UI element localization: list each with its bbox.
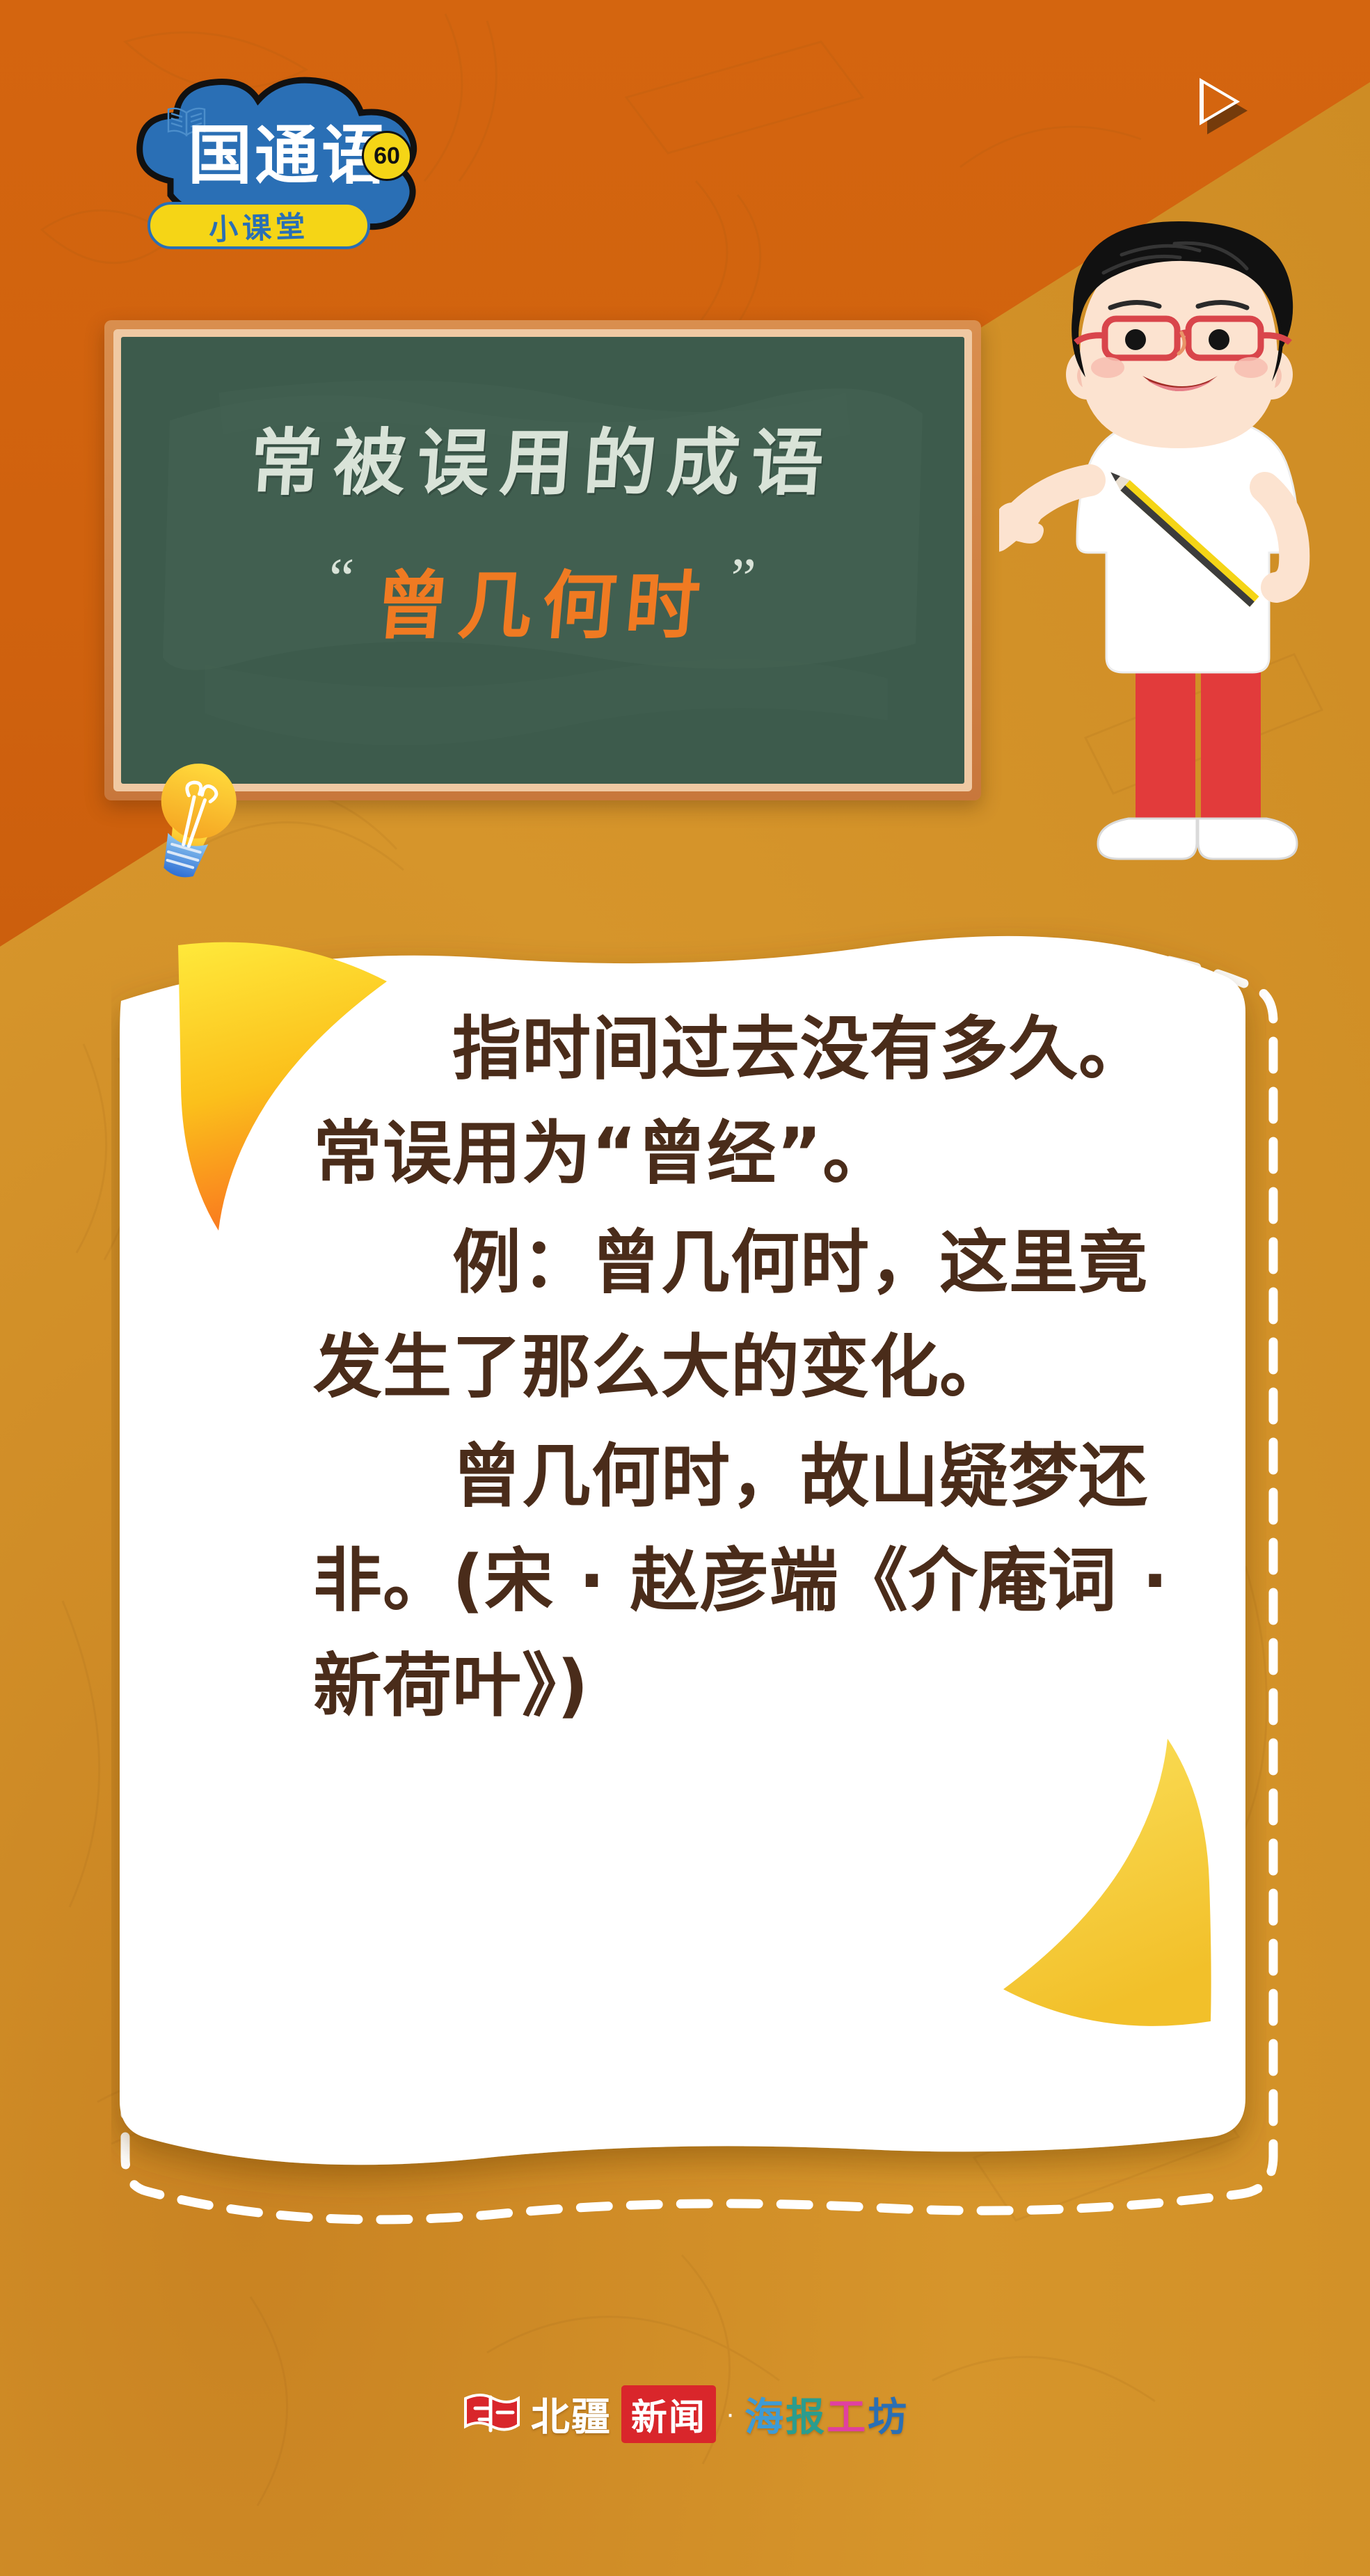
blackboard-surface: 常被误用的成语 “ 曾几何时 ”: [121, 337, 964, 784]
card-paragraph: 例：曾几何时，这里竟发生了那么大的变化。: [313, 1211, 1190, 1421]
blackboard-inner-frame: 常被误用的成语 “ 曾几何时 ”: [113, 329, 972, 791]
blackboard-title: 常被误用的成语: [121, 404, 964, 509]
footer-brand: 北疆: [531, 2386, 612, 2442]
quote-open: “: [329, 546, 354, 610]
card-paragraph: 指时间过去没有多久。常误用为“曾经”。: [313, 997, 1190, 1207]
quote-close: ”: [731, 546, 756, 610]
logo-badge: 60: [362, 131, 412, 181]
footer-studio: 海报工坊: [744, 2386, 909, 2442]
logo-subtitle: 小课堂: [208, 203, 310, 248]
blackboard-idiom: 曾几何时: [353, 546, 732, 653]
logo-block[interactable]: 国通语 60 小课堂: [104, 77, 431, 264]
play-triangle-inner: [1204, 84, 1234, 120]
boy-student-illustration: [999, 209, 1361, 919]
content-card: 指时间过去没有多久。常误用为“曾经”。 例：曾几何时，这里竟发生了那么大的变化。…: [111, 917, 1266, 2261]
footer-studio-char: 海: [744, 2396, 786, 2440]
card-body-text: 指时间过去没有多久。常误用为“曾经”。 例：曾几何时，这里竟发生了那么大的变化。…: [313, 997, 1190, 1743]
footer-news-tag: 新闻: [621, 2385, 716, 2443]
blackboard: 常被误用的成语 “ 曾几何时 ”: [104, 320, 981, 800]
footer-brand-bar: 北疆 新闻 · 海报工坊: [0, 2365, 1370, 2463]
card-paragraph: 曾几何时，故山疑梦还非。(宋 · 赵彦端《介庵词 · 新荷叶》): [313, 1425, 1190, 1739]
footer-studio-char: 报: [786, 2396, 827, 2440]
footer-studio-char: 工: [827, 2396, 868, 2440]
footer-studio-char: 坊: [868, 2396, 909, 2440]
blackboard-idiom-row: “ 曾几何时 ”: [121, 546, 964, 653]
logo-subtitle-pill: 小课堂: [148, 202, 370, 249]
red-flag-icon: [461, 2392, 521, 2436]
footer-separator: ·: [726, 2399, 735, 2430]
poster-root: 国通语 60 小课堂 常被误用的成语 “ 曾几何时 ”: [0, 0, 1370, 2576]
logo-title: 国通语: [188, 124, 388, 188]
